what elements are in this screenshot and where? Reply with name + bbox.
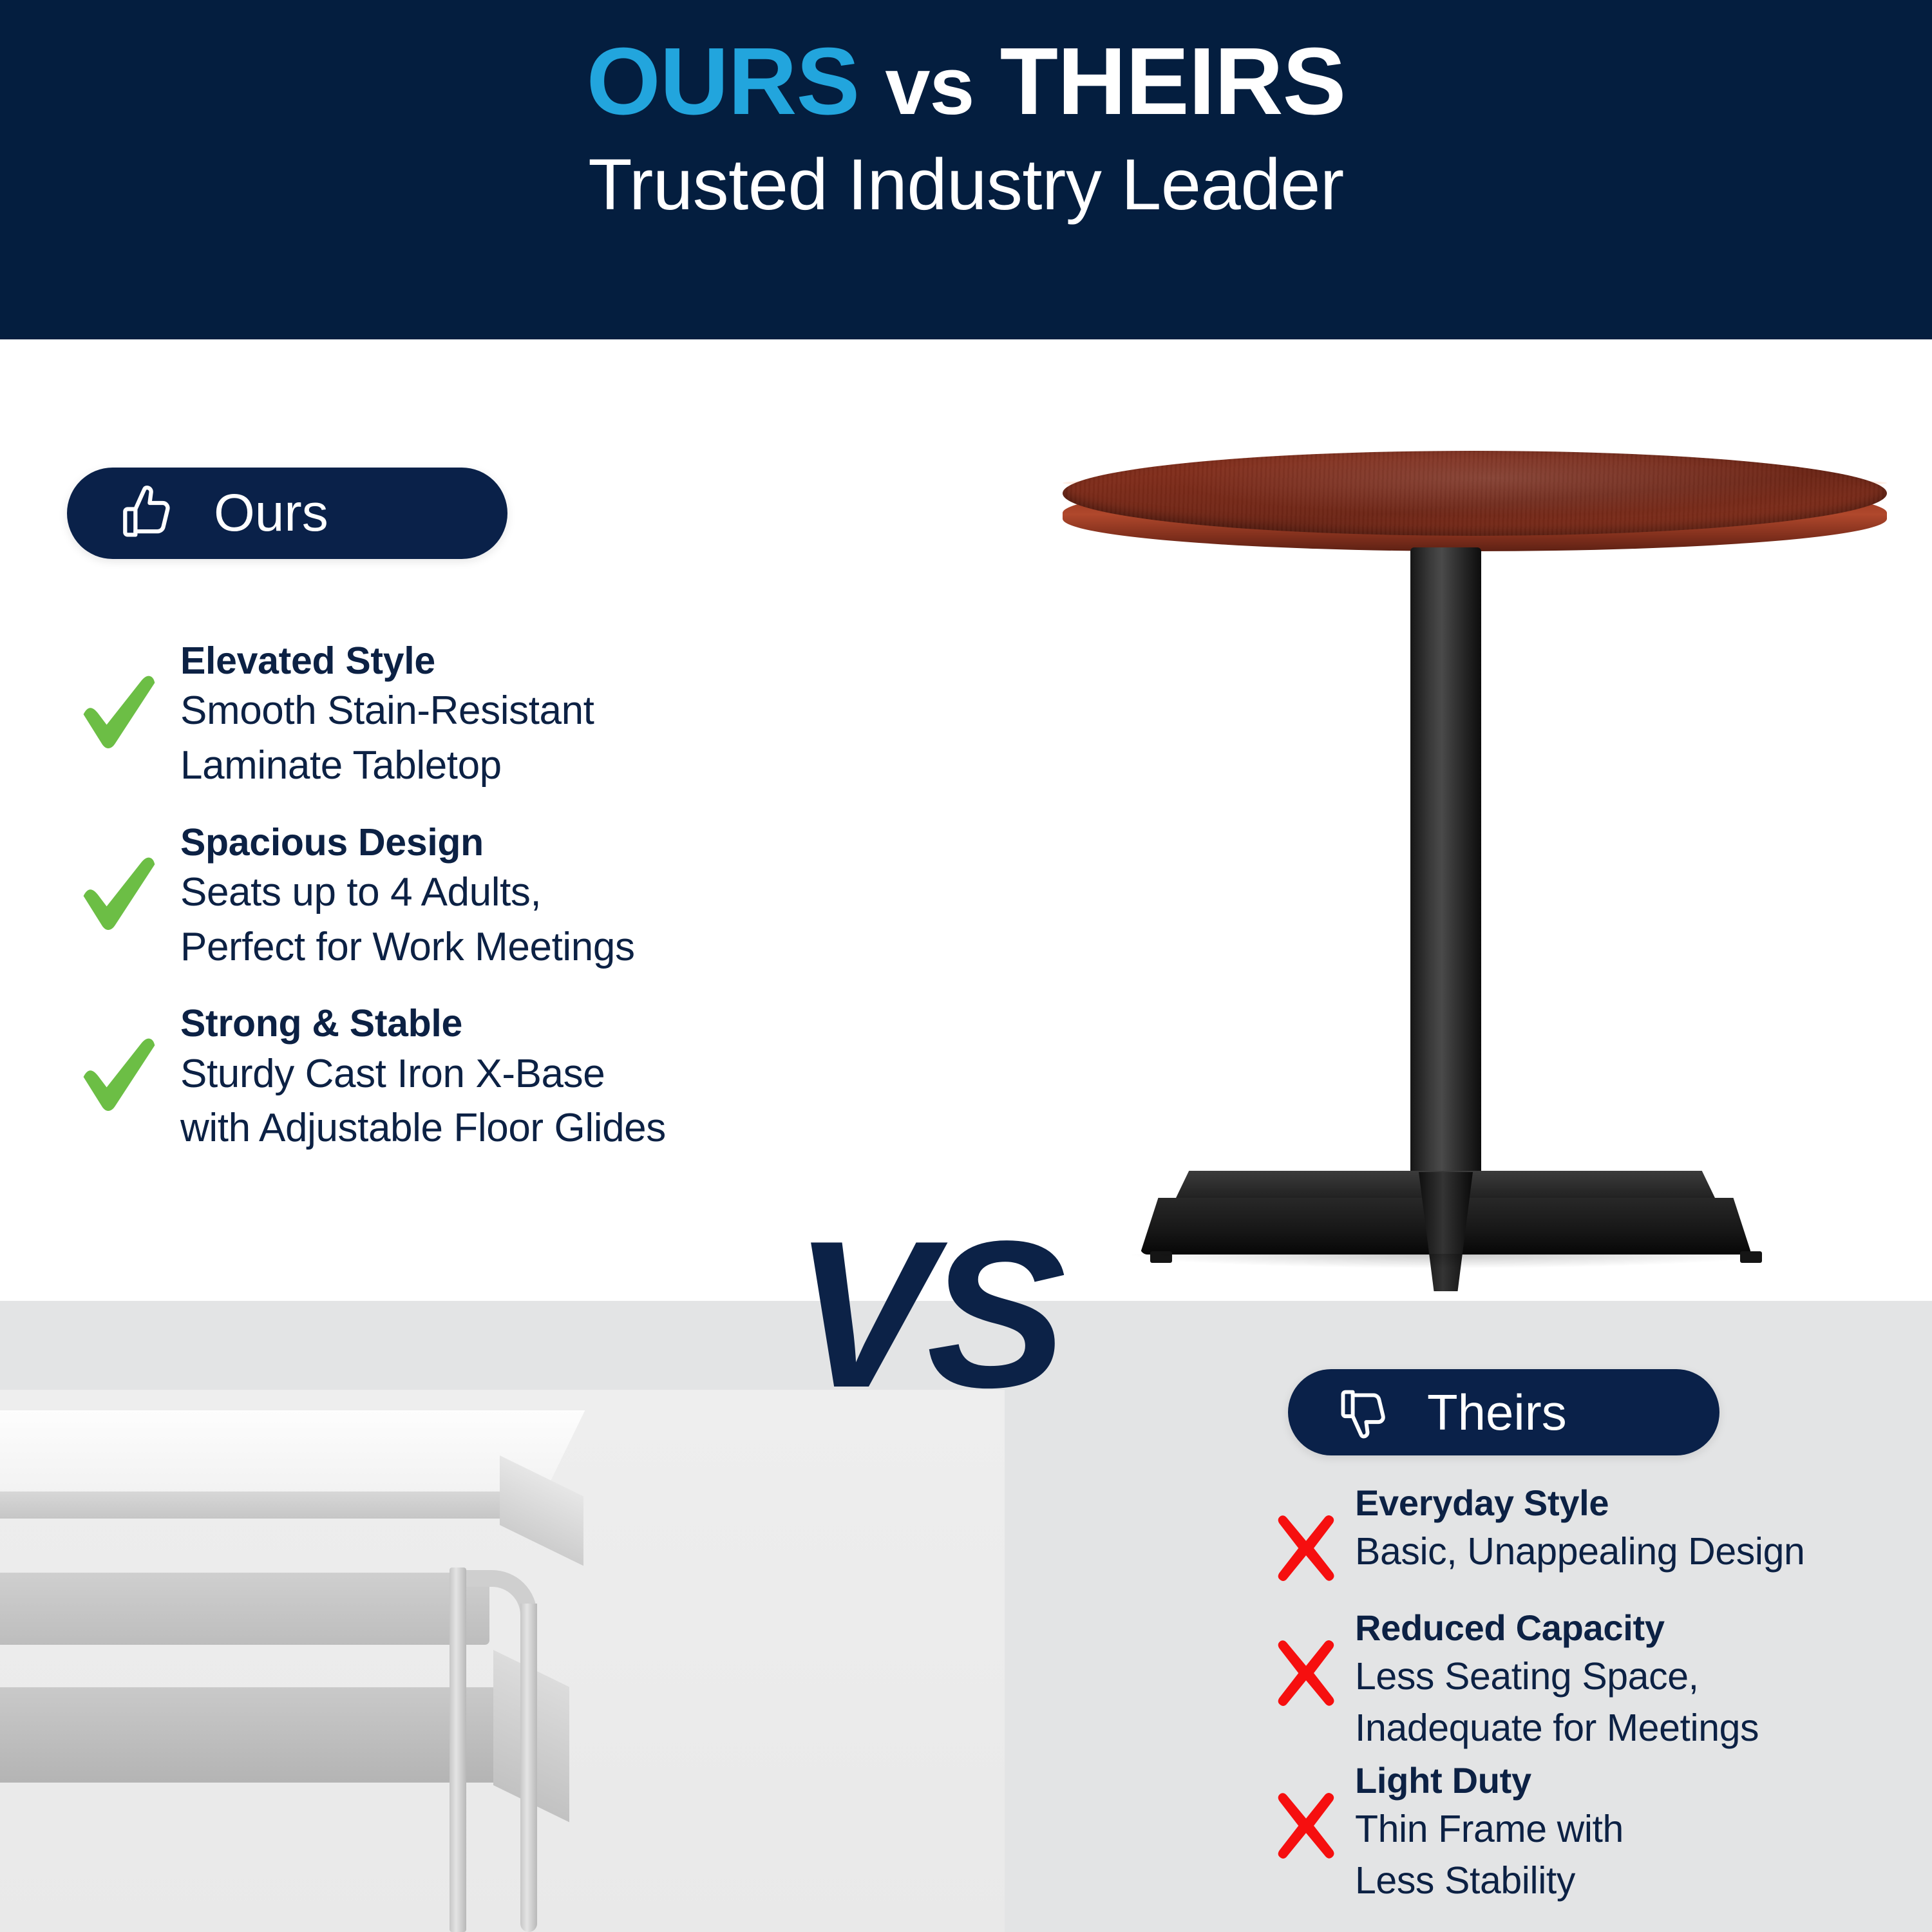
header-banner: OURS vs THEIRS Trusted Industry Leader	[0, 0, 1932, 339]
ours-feature-body-line2: Perfect for Work Meetings	[180, 922, 878, 974]
ours-feature-body-line1: Seats up to 4 Adults,	[180, 867, 878, 919]
theirs-feature-body-line2: Less Stability	[1355, 1856, 1932, 1905]
theirs-badge-label: Theirs	[1427, 1383, 1567, 1442]
title-vs-word: vs	[885, 41, 974, 131]
ours-feature-body-line2: with Adjustable Floor Glides	[180, 1103, 878, 1155]
ours-badge-label: Ours	[214, 483, 328, 544]
ours-feature-heading: Spacious Design	[180, 820, 878, 864]
table-base-spine	[1419, 1172, 1473, 1291]
title-ours-word: OURS	[587, 28, 860, 135]
theirs-badge: Theirs	[1288, 1369, 1719, 1455]
cross-icon	[1257, 1606, 1355, 1709]
ours-feature-text: Strong & Stable Sturdy Cast Iron X-Base …	[180, 1000, 878, 1155]
check-icon	[67, 819, 180, 934]
ours-feature-body-line1: Sturdy Cast Iron X-Base	[180, 1048, 878, 1101]
theirs-feature-heading: Light Duty	[1355, 1760, 1932, 1802]
ours-feature-text: Elevated Style Smooth Stain-Resistant La…	[180, 638, 878, 792]
ours-feature-body-line1: Smooth Stain-Resistant	[180, 685, 878, 737]
theirs-feature-text: Reduced Capacity Less Seating Space, Ina…	[1355, 1606, 1932, 1752]
their-table-leg-back	[450, 1567, 466, 1932]
theirs-feature-heading: Reduced Capacity	[1355, 1607, 1932, 1649]
ours-feature-heading: Elevated Style	[180, 639, 878, 683]
ours-feature-list: Elevated Style Smooth Stain-Resistant La…	[67, 638, 878, 1182]
page-subtitle: Trusted Industry Leader	[588, 140, 1343, 230]
ours-feature-item: Spacious Design Seats up to 4 Adults, Pe…	[67, 819, 878, 974]
ours-feature-heading: Strong & Stable	[180, 1001, 878, 1045]
their-table-apron-upper	[0, 1573, 489, 1645]
page-title: OURS vs THEIRS	[587, 33, 1346, 131]
theirs-feature-body-line2: Inadequate for Meetings	[1355, 1703, 1932, 1752]
ours-feature-item: Elevated Style Smooth Stain-Resistant La…	[67, 638, 878, 792]
their-table-top-edge	[0, 1492, 518, 1519]
thumbs-down-icon	[1334, 1381, 1397, 1444]
their-product-image	[0, 1410, 792, 1932]
theirs-feature-body-line1: Thin Frame with	[1355, 1804, 1932, 1853]
theirs-feature-text: Everyday Style Basic, Unappealing Design	[1355, 1481, 1932, 1576]
ours-feature-item: Strong & Stable Sturdy Cast Iron X-Base …	[67, 1000, 878, 1155]
title-theirs-word: THEIRS	[1000, 28, 1346, 135]
theirs-feature-body-line1: Basic, Unappealing Design	[1355, 1527, 1932, 1576]
their-table-top	[0, 1410, 585, 1494]
check-icon	[67, 1000, 180, 1115]
theirs-feature-heading: Everyday Style	[1355, 1482, 1932, 1524]
theirs-feature-list: Everyday Style Basic, Unappealing Design…	[1257, 1481, 1932, 1927]
ours-badge: Ours	[67, 468, 507, 559]
cross-icon	[1257, 1481, 1355, 1584]
ours-feature-text: Spacious Design Seats up to 4 Adults, Pe…	[180, 819, 878, 974]
vs-divider-label: VS	[793, 1209, 1060, 1419]
check-icon	[67, 638, 180, 752]
theirs-feature-body-line1: Less Seating Space,	[1355, 1652, 1932, 1701]
our-product-image	[1018, 451, 1932, 1307]
table-column	[1410, 547, 1481, 1198]
thumbs-up-icon	[116, 480, 183, 547]
tabletop-surface	[1063, 451, 1887, 536]
theirs-feature-item: Light Duty Thin Frame with Less Stabilit…	[1257, 1759, 1932, 1905]
ours-feature-body-line2: Laminate Tabletop	[180, 740, 878, 792]
their-table-leg-front	[520, 1604, 537, 1932]
theirs-feature-text: Light Duty Thin Frame with Less Stabilit…	[1355, 1759, 1932, 1905]
cross-icon	[1257, 1759, 1355, 1862]
table-base-shadow	[1132, 1254, 1763, 1268]
theirs-feature-item: Reduced Capacity Less Seating Space, Ina…	[1257, 1606, 1932, 1752]
theirs-feature-item: Everyday Style Basic, Unappealing Design	[1257, 1481, 1932, 1584]
